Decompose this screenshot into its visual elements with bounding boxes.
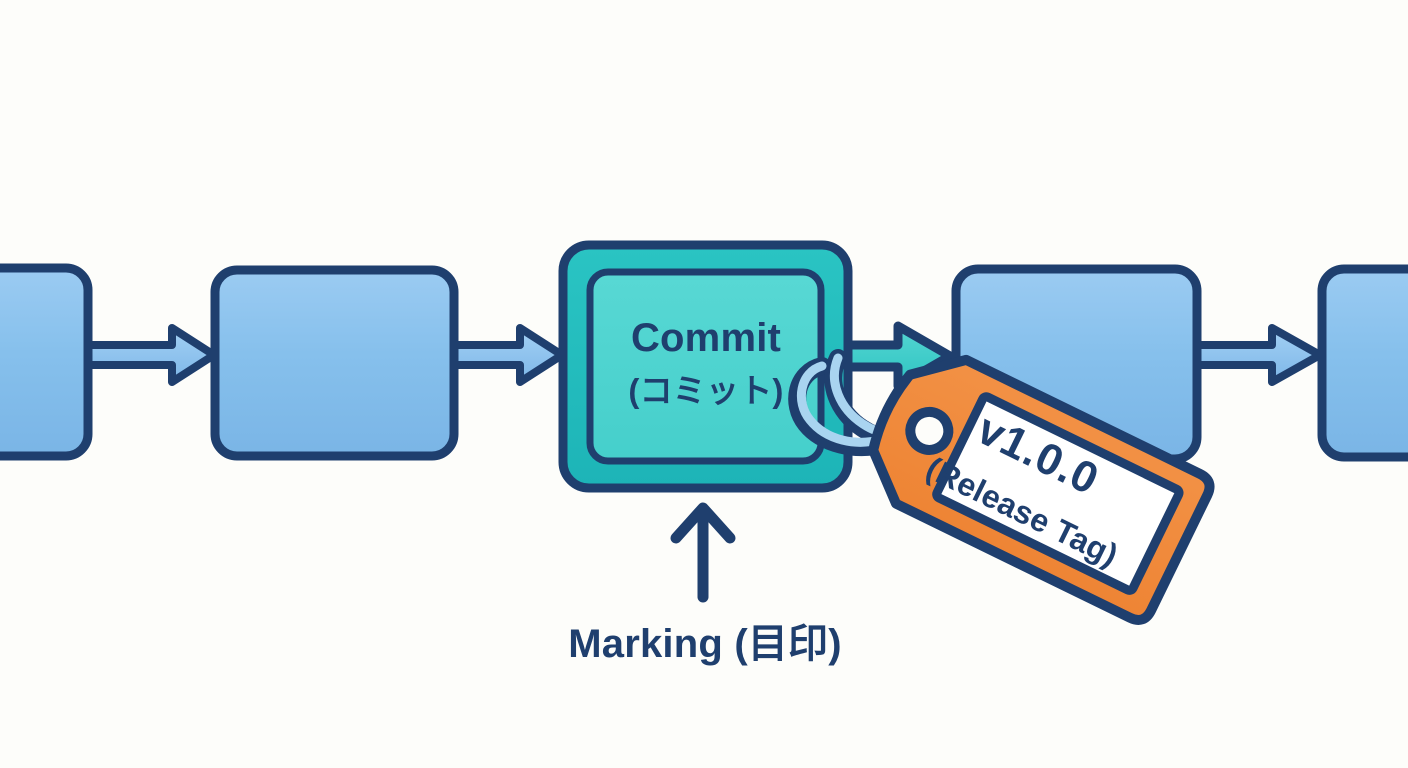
commit-box-2[interactable] xyxy=(215,270,454,456)
marking-callout-arrow xyxy=(676,508,730,597)
arrow-commit4-to-commit5 xyxy=(1196,328,1320,382)
commit-box-5[interactable] xyxy=(1322,269,1408,457)
arrow-commit2-to-commit3 xyxy=(452,328,562,382)
diagram-svg xyxy=(0,0,1408,768)
diagram-canvas: Commit (コミット) Marking (目印) v1.0.0 (Relea… xyxy=(0,0,1408,768)
commit-box-1[interactable] xyxy=(0,268,88,456)
arrow-commit1-to-commit2 xyxy=(88,328,214,382)
